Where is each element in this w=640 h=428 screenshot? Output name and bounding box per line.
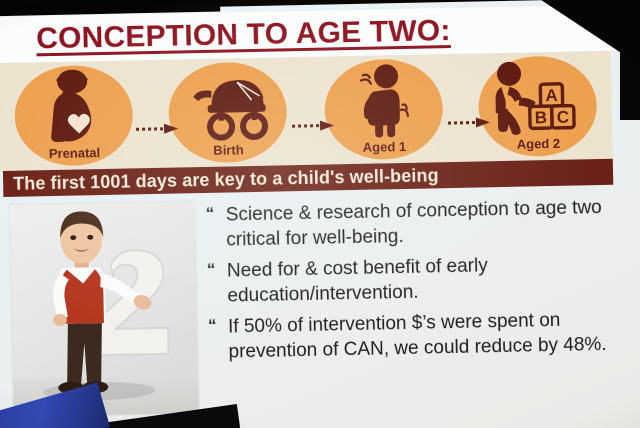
stage-label: Aged 2: [468, 135, 608, 153]
bullet-marker-icon: “: [206, 201, 215, 226]
toddler-photo: [10, 201, 199, 417]
pregnant-woman-heart-icon: [31, 69, 117, 147]
bullet-list: “ Science & research of conception to ag…: [204, 195, 627, 371]
stage-label: Prenatal: [4, 144, 144, 162]
baby-pram-icon: [181, 66, 274, 142]
bullet-marker-icon: “: [207, 257, 216, 282]
bullet-text: Need for & cost benefit of early educati…: [227, 255, 488, 306]
list-item: “ Science & research of conception to ag…: [204, 195, 625, 253]
projected-slide-photo: CONCEPTION TO AGE TWO: Prenatal: [0, 0, 640, 428]
stage-label: Aged 1: [314, 138, 454, 156]
block-letter-a: A: [545, 86, 558, 105]
room-corner-top-right: [520, 0, 640, 72]
toddler-walking-icon: [346, 63, 422, 140]
photo-figure: [10, 201, 199, 417]
banner-text: The first 1001 days are key to a child's…: [13, 165, 439, 195]
block-letter-c: C: [557, 108, 570, 127]
block-letter-b: B: [535, 108, 548, 127]
timeline-stage-prenatal: Prenatal: [3, 62, 145, 169]
bullet-text: If 50% of intervention $’s were spent on…: [228, 310, 607, 363]
dotted-arrow-icon: [134, 121, 180, 134]
list-item: “ Need for & cost benefit of early educa…: [205, 251, 626, 309]
list-item: “ If 50% of intervention $’s were spent …: [206, 307, 627, 365]
dotted-arrow-icon: [290, 118, 336, 131]
stage-label: Birth: [158, 141, 298, 159]
dotted-arrow-icon: [446, 115, 492, 128]
bullet-marker-icon: “: [208, 313, 217, 338]
timeline-stage-birth: Birth: [157, 59, 299, 166]
room-corner-top-left: [0, 0, 108, 16]
timeline-stage-aged-1: Aged 1: [313, 56, 455, 163]
bullet-text: Science & research of conception to age …: [226, 197, 602, 251]
